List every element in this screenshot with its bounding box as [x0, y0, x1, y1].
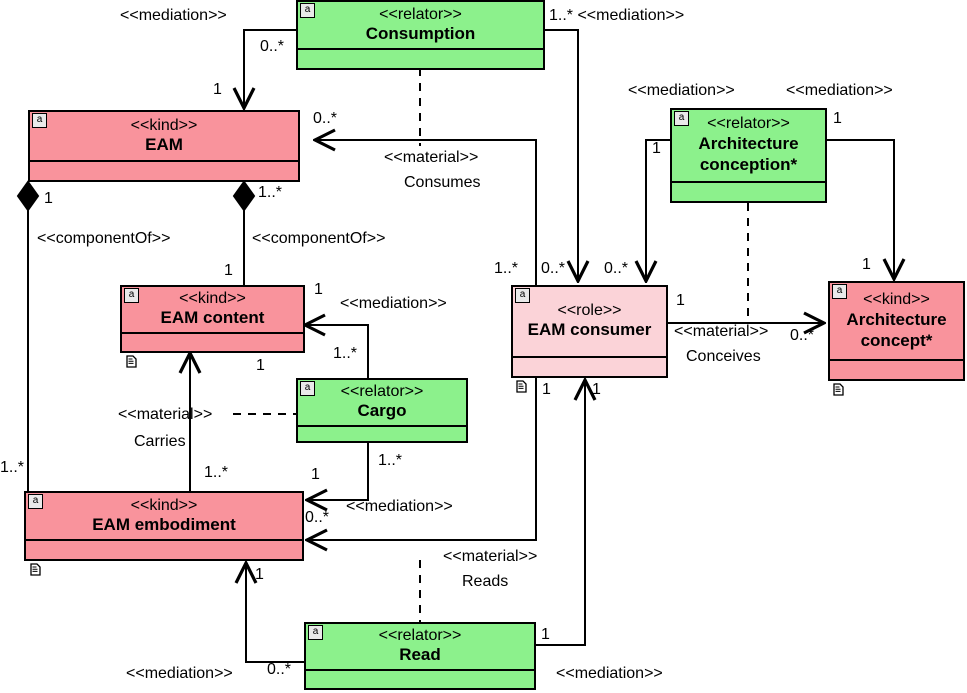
class-eam-content-name: EAM content [161, 308, 265, 328]
class-eam-consumer-name: EAM consumer [528, 320, 652, 340]
class-consumption-stereotype: <<relator>> [379, 5, 462, 24]
document-marker-icon [833, 383, 844, 396]
class-consumption-attributes [298, 50, 543, 68]
label-mediation-cargo-embodiment: <<mediation>> [346, 497, 453, 516]
class-eam-consumer-header: a <<role>> EAM consumer [513, 287, 666, 358]
edge-consumption-consumer [545, 30, 578, 281]
composition-diamond-left [18, 182, 38, 210]
class-cargo-attributes [298, 427, 466, 445]
mult-read-right: 1 [541, 626, 550, 644]
mult-consumption-left: 0..* [260, 38, 284, 56]
annotation-marker-icon: a [28, 494, 43, 509]
mult-consumer-right: 1 [676, 292, 685, 310]
label-mediation-read-consumer: <<mediation>> [556, 664, 663, 683]
class-read-attributes [306, 671, 534, 689]
edge-read-consumer [536, 380, 585, 645]
label-material-carries-name: Carries [134, 432, 186, 451]
class-eam-consumer-stereotype: <<role>> [557, 301, 621, 320]
uml-diagram-canvas: a <<relator>> Consumption a <<kind>> EAM… [0, 0, 967, 693]
label-mediation-cargo-content: <<mediation>> [340, 294, 447, 313]
class-eam-attributes [30, 162, 298, 180]
class-read-stereotype: <<relator>> [379, 626, 462, 645]
class-eam-embodiment-stereotype: <<kind>> [131, 496, 198, 515]
mult-eam-diamond-right: 1..* [258, 184, 282, 202]
class-cargo-stereotype: <<relator>> [341, 382, 424, 401]
class-consumption-name: Consumption [366, 24, 476, 44]
class-architecture-concept-name: Architecture concept* [836, 309, 958, 351]
mult-eam-diamond-left: 1 [44, 190, 53, 208]
mult-consumer-top-b: 0..* [604, 260, 628, 278]
edge-conception-consumer [646, 140, 670, 281]
document-marker-icon [126, 355, 137, 368]
class-eam-name: EAM [145, 135, 183, 155]
class-architecture-conception[interactable]: a <<relator>> Architecture conception* [670, 108, 827, 203]
annotation-marker-icon: a [515, 288, 530, 303]
label-material-conceives-stereotype: <<material>> [674, 322, 768, 341]
annotation-marker-icon: a [832, 284, 847, 299]
class-cargo-name: Cargo [357, 401, 406, 421]
class-architecture-concept-header: a <<kind>> Architecture concept* [830, 283, 963, 361]
annotation-marker-icon: a [300, 3, 315, 18]
class-eam-content-stereotype: <<kind>> [179, 289, 246, 308]
class-eam-embodiment-name: EAM embodiment [92, 515, 236, 535]
class-architecture-conception-attributes [672, 183, 825, 201]
mult-concept-left: 0..* [790, 327, 814, 345]
mult-consumer-bottom-b: 1 [592, 381, 601, 399]
class-architecture-conception-header: a <<relator>> Architecture conception* [672, 110, 825, 183]
label-mediation-conception-consumer: <<mediation>> [628, 81, 735, 100]
class-eam-consumer[interactable]: a <<role>> EAM consumer [511, 285, 668, 378]
class-eam-content[interactable]: a <<kind>> EAM content [120, 285, 305, 353]
class-read[interactable]: a <<relator>> Read [304, 622, 536, 690]
class-eam-content-header: a <<kind>> EAM content [122, 287, 303, 334]
annotation-marker-icon: a [308, 625, 323, 640]
mult-eam-top: 1 [213, 81, 222, 99]
label-material-consumes-stereotype: <<material>> [384, 148, 478, 167]
class-consumption[interactable]: a <<relator>> Consumption [296, 0, 545, 70]
annotation-marker-icon: a [124, 288, 139, 303]
document-marker-icon [516, 380, 527, 393]
label-material-consumes-name: Consumes [404, 173, 480, 192]
label-mediation-consumption-eam: <<mediation>> [120, 6, 227, 25]
class-eam-embodiment-attributes [26, 541, 302, 559]
class-eam-stereotype: <<kind>> [131, 116, 198, 135]
mult-embodiment-right-upper: 1 [311, 466, 320, 484]
label-material-reads-stereotype: <<material>> [443, 547, 537, 566]
mult-embodiment-bottom: 1 [255, 566, 264, 584]
composition-diamond-right [234, 182, 254, 210]
class-cargo-header: a <<relator>> Cargo [298, 380, 466, 427]
edge-conception-concept [827, 140, 894, 279]
class-consumption-header: a <<relator>> Consumption [298, 2, 543, 50]
mult-content-bottom: 1 [256, 357, 265, 375]
class-eam-consumer-attributes [513, 358, 666, 376]
class-architecture-conception-name: Architecture conception* [679, 133, 819, 175]
mult-read-left: 0..* [267, 661, 291, 679]
mult-conception-left: 1 [652, 140, 661, 158]
class-architecture-concept[interactable]: a <<kind>> Architecture concept* [828, 281, 965, 381]
label-material-carries-stereotype: <<material>> [118, 405, 212, 424]
label-material-reads-name: Reads [462, 572, 508, 591]
class-read-name: Read [399, 645, 441, 665]
class-eam-embodiment[interactable]: a <<kind>> EAM embodiment [24, 491, 304, 561]
label-mediation-consumption-consumer: 1..* <<mediation>> [549, 6, 684, 25]
class-eam[interactable]: a <<kind>> EAM [28, 110, 300, 182]
mult-embodiment-right-lower: 0..* [305, 509, 329, 527]
label-componentof-embodiment: <<componentOf>> [37, 229, 170, 248]
document-marker-icon [30, 563, 41, 576]
mult-content-top: 1 [224, 262, 233, 280]
label-mediation-conception-concept: <<mediation>> [786, 81, 893, 100]
annotation-marker-icon: a [32, 113, 47, 128]
class-architecture-concept-stereotype: <<kind>> [863, 290, 930, 309]
class-architecture-conception-stereotype: <<relator>> [707, 114, 790, 133]
mult-concept-top: 1 [862, 256, 871, 274]
annotation-marker-icon: a [300, 381, 315, 396]
mult-eam-right: 0..* [313, 110, 337, 128]
class-read-header: a <<relator>> Read [306, 624, 534, 671]
class-eam-content-attributes [122, 334, 303, 352]
mult-embodiment-top-mid: 1..* [204, 464, 228, 482]
mult-cargo-top: 1..* [333, 345, 357, 363]
annotation-marker-icon: a [674, 111, 689, 126]
class-eam-embodiment-header: a <<kind>> EAM embodiment [26, 493, 302, 541]
class-architecture-concept-attributes [830, 361, 963, 379]
mult-consumer-bottom-a: 1 [542, 381, 551, 399]
mult-embodiment-top-left: 1..* [0, 459, 24, 477]
mult-cargo-bottom: 1..* [378, 452, 402, 470]
mult-conception-right: 1 [833, 110, 842, 128]
label-mediation-read-embodiment: <<mediation>> [126, 664, 233, 683]
mult-consumer-left: 1..* [494, 260, 518, 278]
label-componentof-content: <<componentOf>> [252, 229, 385, 248]
class-cargo[interactable]: a <<relator>> Cargo [296, 378, 468, 443]
class-eam-header: a <<kind>> EAM [30, 112, 298, 162]
mult-content-right: 1 [314, 281, 323, 299]
label-material-conceives-name: Conceives [686, 347, 761, 366]
mult-consumer-top-a: 0..* [541, 260, 565, 278]
